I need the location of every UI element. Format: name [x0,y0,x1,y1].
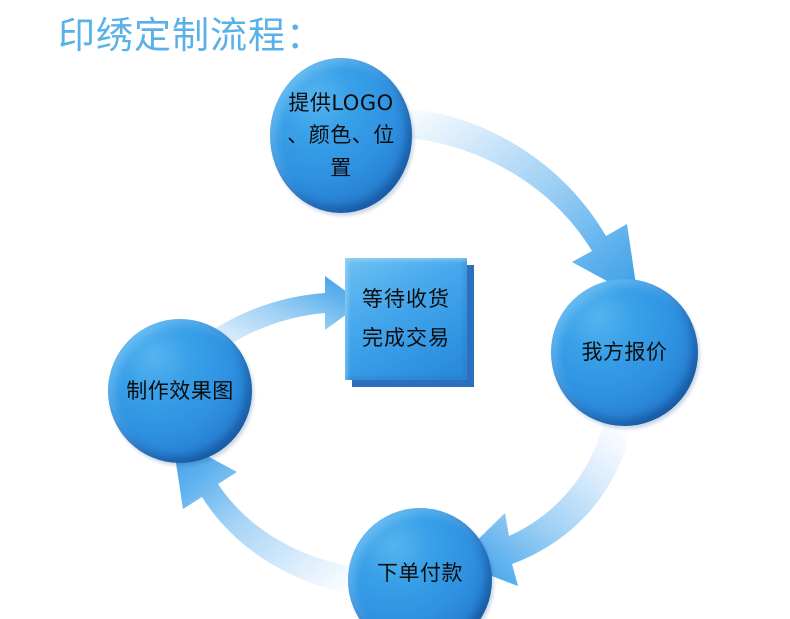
node-await-delivery[interactable]: 等待收货 完成交易 [345,258,467,380]
node-provide-logo-label: 提供LOGO 、颜色、位置 [270,87,412,185]
arrow-pay-to-mockup [172,437,352,594]
node-make-mockup-label: 制作效果图 [118,375,242,408]
flowchart-canvas: 印绣定制流程： [0,0,790,619]
node-place-order-pay-label: 下单付款 [369,557,471,590]
node-await-delivery-line2: 完成交易 [362,319,450,358]
node-make-mockup[interactable]: 制作效果图 [108,319,252,463]
node-our-quote[interactable]: 我方报价 [551,279,698,426]
node-await-delivery-line1: 等待收货 [362,280,450,319]
node-our-quote-label: 我方报价 [574,336,676,369]
node-provide-logo[interactable]: 提供LOGO 、颜色、位置 [270,58,412,213]
